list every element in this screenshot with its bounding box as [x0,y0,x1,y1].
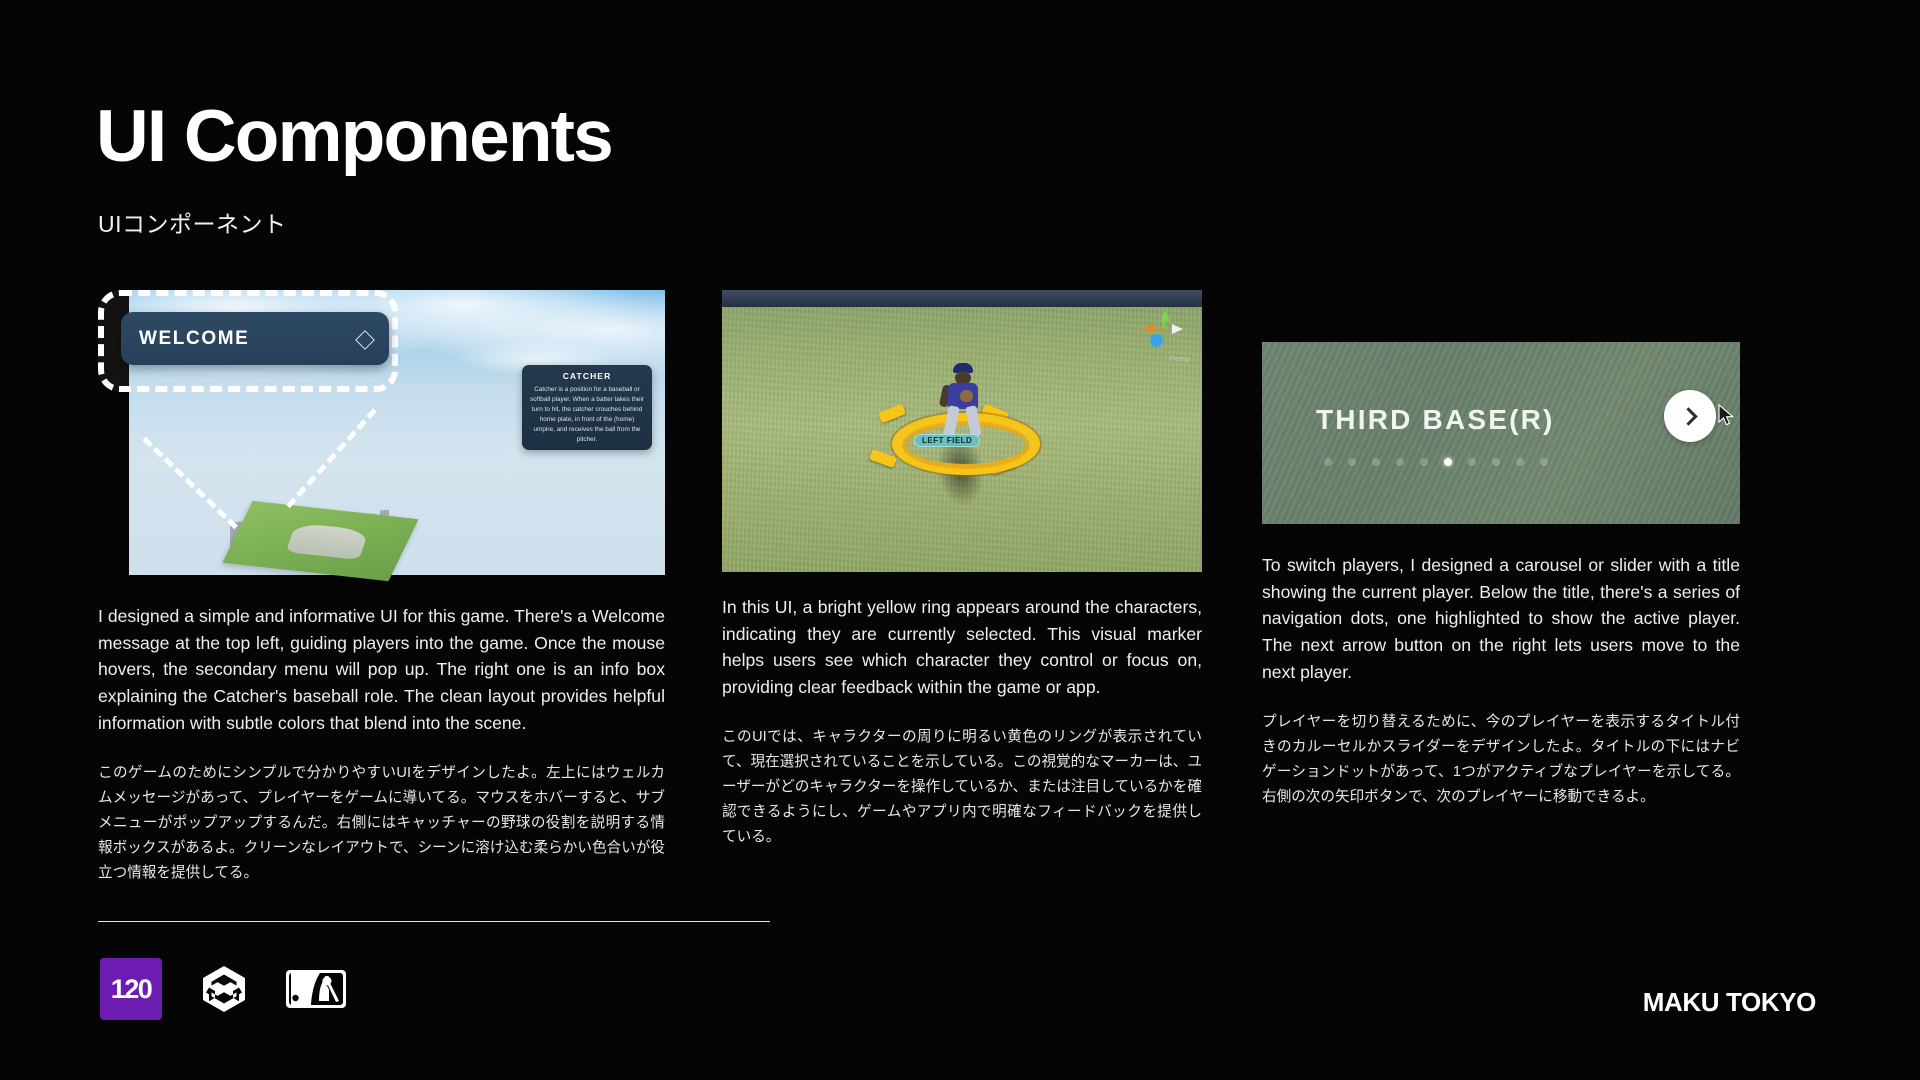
nav-dot[interactable] [1372,458,1380,466]
player-position-label: LEFT FIELD [914,434,980,447]
column-2-text-ja: このUIでは、キャラクターの周りに明るい黄色のリングが表示されていて、現在選択さ… [722,725,1202,850]
unity-axis-gizmo-icon[interactable] [1138,308,1188,356]
nav-dot[interactable] [1516,458,1524,466]
carousel-title: THIRD BASE(R) [1316,404,1555,436]
column-3-text-ja: プレイヤーを切り替えるために、今のプレイヤーを表示するタイトル付きのカルーセルか… [1262,710,1740,810]
figure-selection-ring: LEFT FIELD Persp [722,290,1202,572]
figure-player-carousel: THIRD BASE(R) [1262,342,1740,524]
player-leg-right [965,405,982,437]
column-1-text-en: I designed a simple and informative UI f… [98,603,665,737]
page-subtitle: UIコンポーネント [98,205,287,239]
next-player-button[interactable] [1664,390,1716,442]
nav-dot[interactable] [1396,458,1404,466]
anniversary-120-logo: 120 [100,958,162,1020]
catcher-info-box: CATCHER Catcher is a position for a base… [522,365,652,450]
welcome-button-label: WELCOME [139,328,249,350]
anniversary-120-label: 120 [111,974,152,1005]
column-2: LEFT FIELD Persp In this UI, a bright ye… [722,290,1202,850]
column-1-text-ja: このゲームのためにシンプルで分かりやすいUIをデザインしたよ。左上にはウェルカム… [98,761,665,886]
brand-wordmark: MAKU TOKYO [1643,987,1816,1018]
player-character [940,363,986,433]
welcome-button[interactable]: WELCOME [121,312,389,365]
catcher-info-title: CATCHER [529,371,645,381]
nav-dot[interactable] [1540,458,1548,466]
page-title: UI Components [96,100,612,173]
gizmo-perspective-label: Persp [1170,356,1190,363]
column-3-text-en: To switch players, I designed a carousel… [1262,552,1740,686]
nav-dot[interactable] [1420,458,1428,466]
nav-dot-active[interactable] [1444,458,1452,466]
player-leg-left [943,405,960,437]
nav-dot[interactable] [1324,458,1332,466]
nav-dot[interactable] [1348,458,1356,466]
column-2-text-en: In this UI, a bright yellow ring appears… [722,594,1202,701]
column-1: WELCOME CATCHER Catcher is a position fo… [98,290,665,886]
nav-dot[interactable] [1468,458,1476,466]
diamond-icon [355,330,373,348]
footer-divider [98,921,770,922]
figure-welcome-screen: WELCOME CATCHER Catcher is a position fo… [98,290,665,575]
nav-dot[interactable] [1492,458,1500,466]
slide-root: UI Components UIコンポーネント WELCOME [0,0,1920,1080]
selection-frame: WELCOME [98,290,398,392]
catcher-info-body: Catcher is a position for a baseball or … [529,385,645,445]
player-glove [960,390,973,402]
unity-logo [198,963,250,1015]
chevron-right-icon [1679,407,1697,425]
baseball-field: LEFT FIELD Persp [722,290,1202,572]
footer-logos: 120 [100,958,346,1020]
column-3: THIRD BASE(R) To s [1262,290,1740,810]
carousel-nav-dots[interactable] [1324,458,1548,466]
mlb-logo [286,967,346,1011]
